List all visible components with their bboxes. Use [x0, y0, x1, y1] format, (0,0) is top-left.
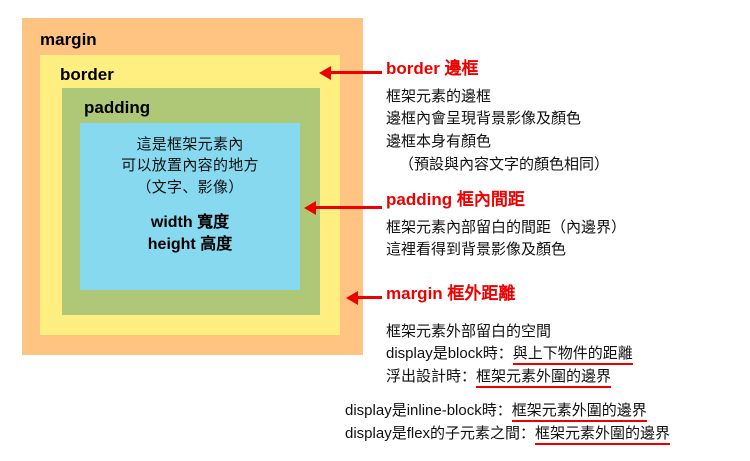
content-box: 這是框架元素內 可以放置內容的地方 （文字、影像） width 寬度 heigh…: [80, 123, 300, 290]
annotation-padding: padding 框內間距 框架元素內部留白的間距（內邊界） 這裡看得到背景影像及…: [386, 191, 626, 262]
bottom-note-line: display是flex的子元素之間：框架元素外圍的邊界: [345, 422, 670, 445]
annotation-line: 框架元素外部留白的空間: [386, 321, 633, 344]
annotation-padding-body: 框架元素內部留白的間距（內邊界） 這裡看得到背景影像及顏色: [386, 217, 626, 263]
bottom-note-prefix: display是flex的子元素之間：: [345, 425, 535, 442]
height-label: height 高度: [148, 234, 232, 256]
bottom-note-underlined: 框架元素外圍的邊界: [535, 425, 670, 445]
arrow-left-icon-border: [330, 71, 382, 74]
content-line: （文字、影像）: [121, 177, 259, 198]
annotation-line: 框架元素內部留白的間距（內邊界）: [386, 217, 626, 240]
annotation-line: 框架元素的邊框: [386, 86, 609, 109]
padding-box-label: padding: [84, 99, 150, 116]
border-box: border padding 這是框架元素內 可以放置內容的地方 （文字、影像）…: [40, 55, 340, 335]
annotation-line-prefix: 浮出設計時：: [386, 368, 476, 385]
annotation-margin-body: 框架元素外部留白的空間 display是block時：與上下物件的距離 浮出設計…: [386, 321, 633, 389]
bottom-notes: display是inline-block時：框架元素外圍的邊界 display是…: [345, 399, 670, 446]
content-line: 可以放置內容的地方: [121, 155, 259, 176]
annotation-line-underlined: 與上下物件的距離: [513, 345, 633, 365]
annotation-border: border 邊框 框架元素的邊框 邊框內會呈現背景影像及顏色 邊框本身有顏色 …: [386, 60, 609, 177]
annotation-margin: margin 框外距離 框架元素外部留白的空間 display是block時：與…: [386, 285, 633, 389]
bottom-note-underlined: 框架元素外圍的邊界: [512, 402, 647, 422]
annotation-line-underlined: 框架元素外圍的邊界: [476, 368, 611, 388]
annotation-line: 浮出設計時：框架元素外圍的邊界: [386, 366, 633, 389]
annotation-border-title: border 邊框: [386, 60, 609, 79]
annotation-margin-title: margin 框外距離: [386, 285, 633, 304]
content-line: 這是框架元素內: [121, 134, 259, 155]
margin-box: margin border padding 這是框架元素內 可以放置內容的地方 …: [22, 18, 363, 355]
border-box-label: border: [60, 66, 114, 83]
bottom-note-line: display是inline-block時：框架元素外圍的邊界: [345, 399, 670, 422]
box-model-diagram: margin border padding 這是框架元素內 可以放置內容的地方 …: [0, 0, 750, 461]
annotation-line-prefix: display是block時：: [386, 345, 513, 362]
annotation-line: 這裡看得到背景影像及顏色: [386, 239, 626, 262]
content-description: 這是框架元素內 可以放置內容的地方 （文字、影像）: [121, 134, 259, 198]
arrow-left-icon-padding: [315, 206, 382, 209]
bottom-note-prefix: display是inline-block時：: [345, 402, 512, 419]
width-label: width 寬度: [148, 212, 232, 234]
annotation-line: display是block時：與上下物件的距離: [386, 343, 633, 366]
annotation-line: 邊框本身有顏色: [386, 131, 609, 154]
annotation-padding-title: padding 框內間距: [386, 191, 626, 210]
margin-box-label: margin: [40, 31, 97, 48]
annotation-line: （預設與內容文字的顏色相同）: [386, 154, 609, 177]
annotation-line-indented: （預設與內容文字的顏色相同）: [386, 154, 609, 177]
annotation-border-body: 框架元素的邊框 邊框內會呈現背景影像及顏色 邊框本身有顏色 （預設與內容文字的顏…: [386, 86, 609, 177]
padding-box: padding 這是框架元素內 可以放置內容的地方 （文字、影像） width …: [62, 88, 320, 315]
content-dimensions: width 寬度 height 高度: [148, 212, 232, 256]
annotation-line: 邊框內會呈現背景影像及顏色: [386, 108, 609, 131]
arrow-left-icon-margin: [357, 296, 382, 299]
